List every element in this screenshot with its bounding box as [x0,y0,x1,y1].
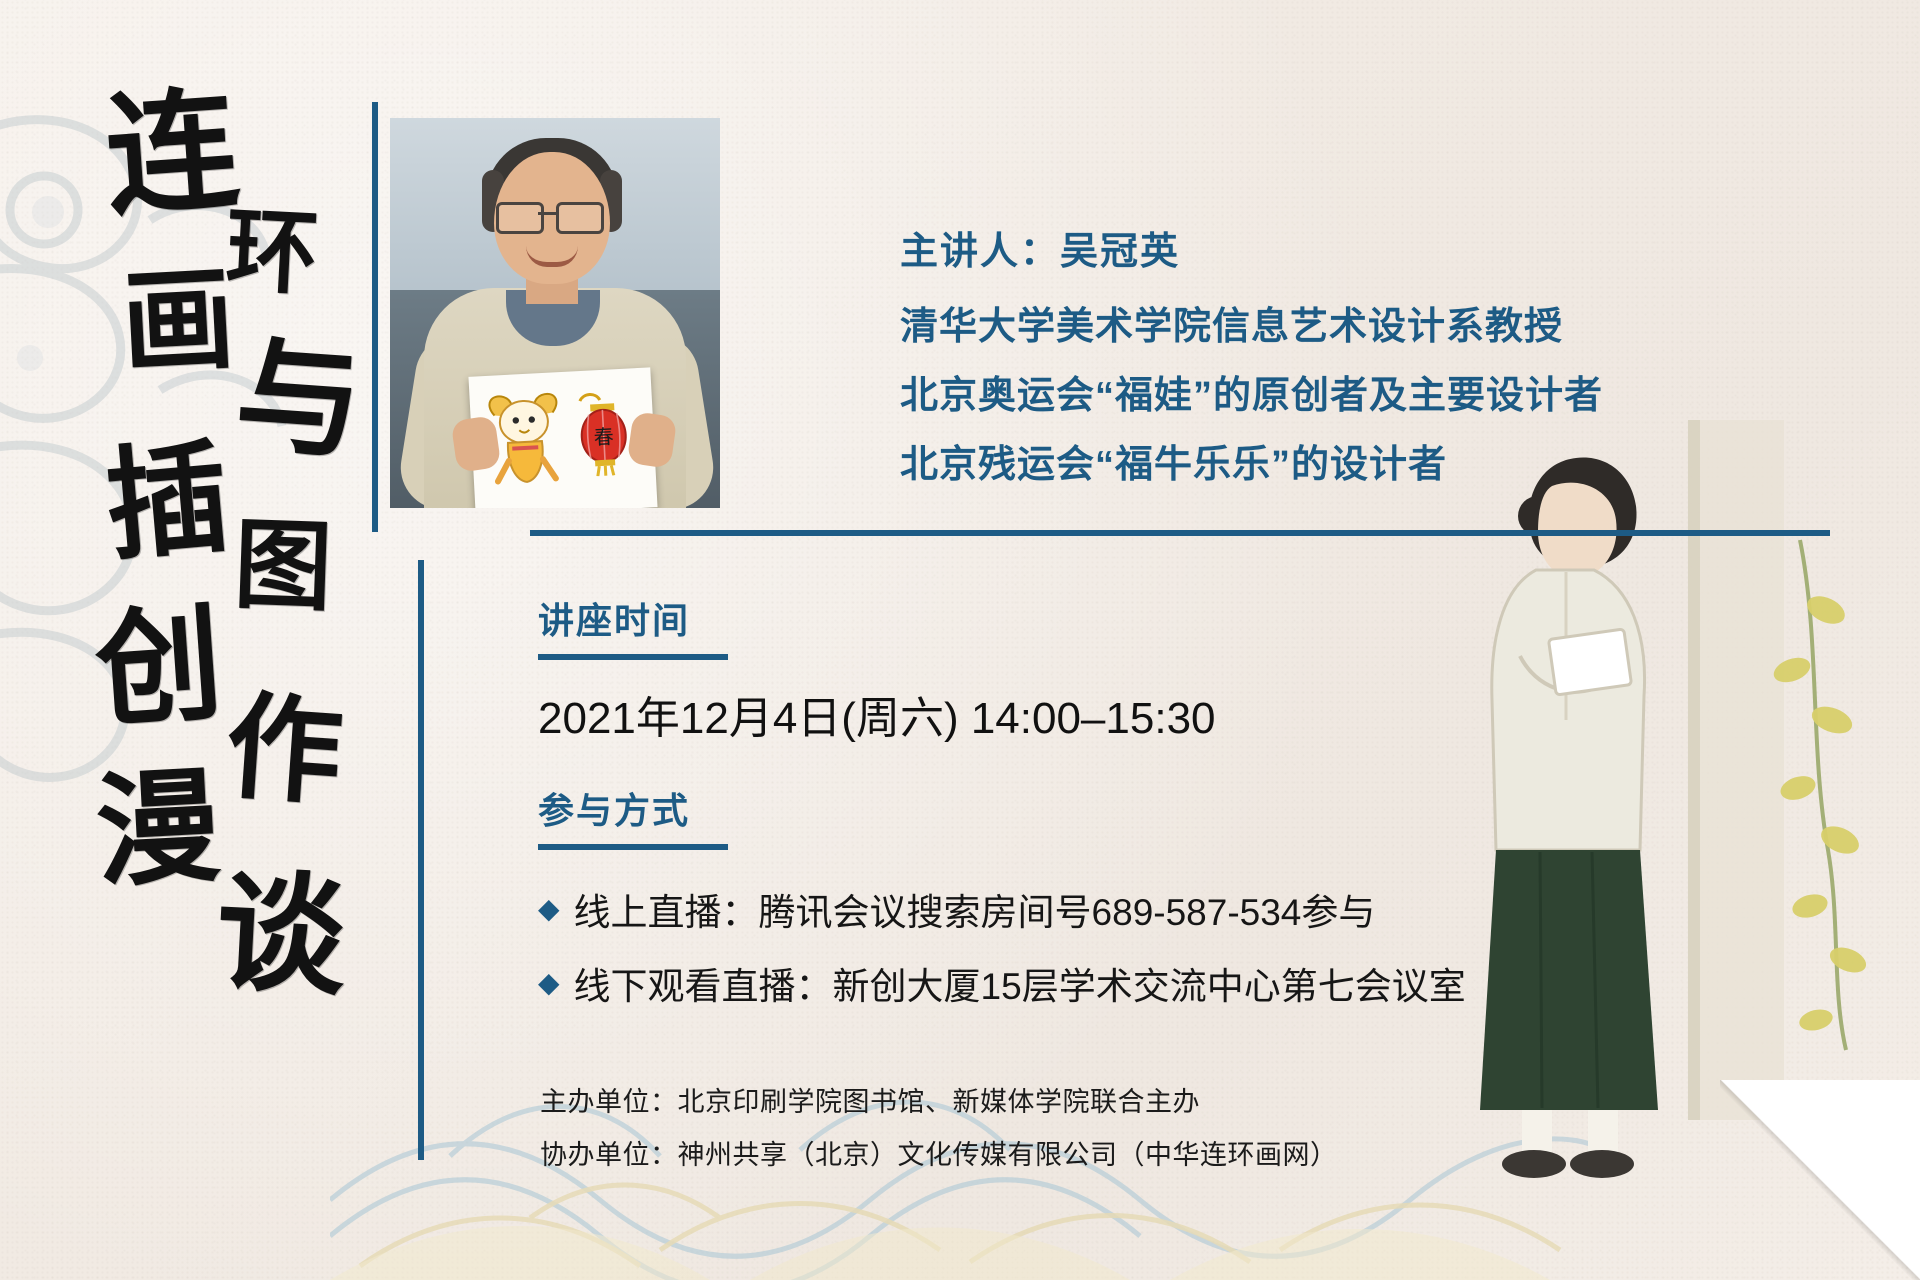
spring-lantern-illustration: 春 [573,388,633,477]
title-char-8: 作 [222,688,346,812]
join-method-item-2-text: 线下观看直播：新创大厦15层学术交流中心第七会议室 [574,956,1466,1010]
diamond-bullet-icon: ◆ [538,969,560,997]
diamond-bullet-icon: ◆ [538,895,560,923]
title-char-7: 创 [92,600,226,734]
title-char-3: 画 [119,263,237,381]
speaker-credential-1: 清华大学美术学院信息艺术设计系教授 [900,295,1603,350]
speaker-credential-3: 北京残运会“福牛乐乐”的设计者 [900,433,1603,488]
vertical-divider-top [372,102,378,532]
title-char-10: 谈 [213,867,350,1004]
lecture-time-underline [538,654,728,660]
join-method-item-1: ◆ 线上直播：腾讯会议搜索房间号689-587-534参与 [538,882,1466,936]
speaker-info-block: 主讲人：吴冠英 清华大学美术学院信息艺术设计系教授 北京奥运会“福娃”的原创者及… [900,220,1603,488]
poster-canvas: 连 环 画 与 插 图 创 作 漫 谈 [0,0,1920,1280]
organizer-line-2: 协办单位：神州共享（北京）文化传媒有限公司（中华连环画网） [540,1133,1338,1172]
speaker-name: 主讲人：吴冠英 [900,220,1603,275]
join-method-section: 参与方式 ◆ 线上直播：腾讯会议搜索房间号689-587-534参与 ◆ 线下观… [538,782,1466,1010]
organizer-line-1: 主办单位：北京印刷学院图书馆、新媒体学院联合主办 [540,1080,1338,1119]
title-char-5: 插 [101,435,233,567]
join-method-item-2: ◆ 线下观看直播：新创大厦15层学术交流中心第七会议室 [538,956,1466,1010]
title-char-9: 漫 [93,765,223,895]
title-char-2: 环 [224,204,321,301]
lecture-time-heading: 讲座时间 [538,592,1216,644]
speaker-photo: 春 [390,118,720,508]
join-method-item-1-text: 线上直播：腾讯会议搜索房间号689-587-534参与 [574,882,1376,936]
page-corner-fold [1720,1080,1920,1280]
title-char-1: 连 [102,84,243,225]
poster-title: 连 环 画 与 插 图 创 作 漫 谈 [78,88,358,1088]
title-char-6: 图 [232,516,333,617]
join-method-underline [538,844,728,850]
lecture-time-value: 2021年12月4日(周六) 14:00–15:30 [538,682,1216,746]
title-char-4: 与 [232,332,366,466]
join-method-heading: 参与方式 [538,782,1466,834]
vertical-divider-bottom [418,560,424,1160]
speaker-credential-2: 北京奥运会“福娃”的原创者及主要设计者 [900,364,1603,419]
svg-text:春: 春 [593,424,614,449]
horizontal-divider-speaker [530,530,1830,536]
lecture-time-section: 讲座时间 2021年12月4日(周六) 14:00–15:30 [538,592,1216,746]
organizer-footer: 主办单位：北京印刷学院图书馆、新媒体学院联合主办 协办单位：神州共享（北京）文化… [540,1080,1338,1172]
